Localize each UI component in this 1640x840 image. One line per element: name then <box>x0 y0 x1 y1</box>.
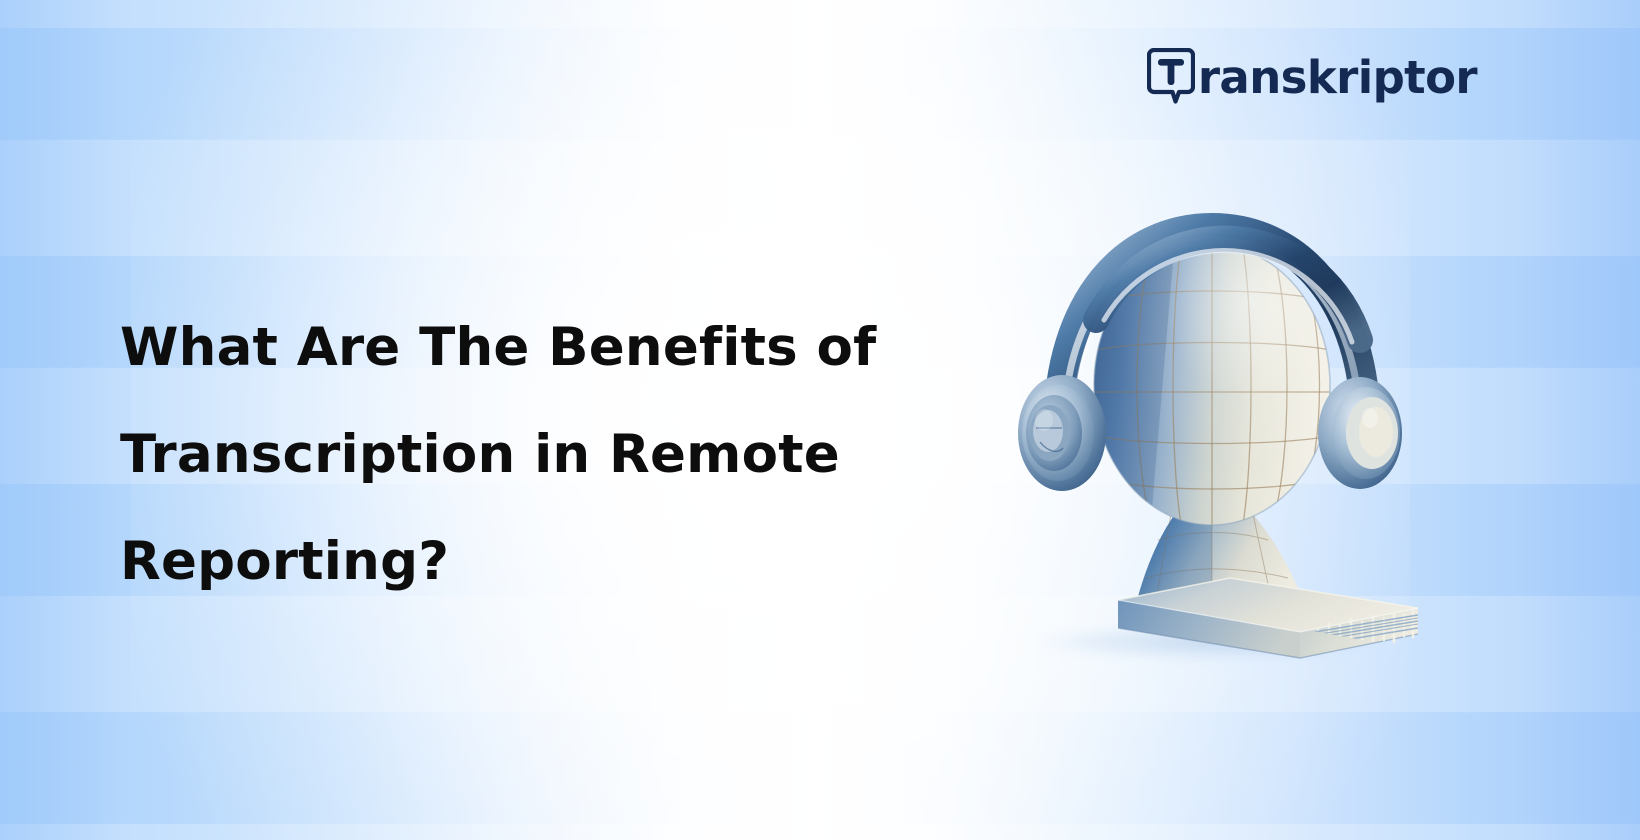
headphone-right-earcup[interactable] <box>1318 377 1402 489</box>
headphone-left-earcup[interactable] <box>1018 375 1106 491</box>
logo-wordmark: ranskriptor <box>1198 55 1477 100</box>
headline-line-2: Transcription in Remote <box>120 401 920 508</box>
globe-with-headphones-illustration <box>1000 180 1420 670</box>
headline-line-3: Reporting? <box>120 508 920 615</box>
page-title: What Are The Benefits of Transcription i… <box>120 294 920 615</box>
transkriptor-logo[interactable]: ranskriptor <box>1147 48 1477 104</box>
background-edge-right <box>1520 0 1640 840</box>
banner-canvas: What Are The Benefits of Transcription i… <box>0 0 1640 840</box>
hero-illustration <box>1000 180 1420 670</box>
headline-line-1: What Are The Benefits of <box>120 294 920 401</box>
background-edge-left <box>0 0 120 840</box>
transkriptor-t-speech-bubble-icon <box>1147 48 1195 104</box>
